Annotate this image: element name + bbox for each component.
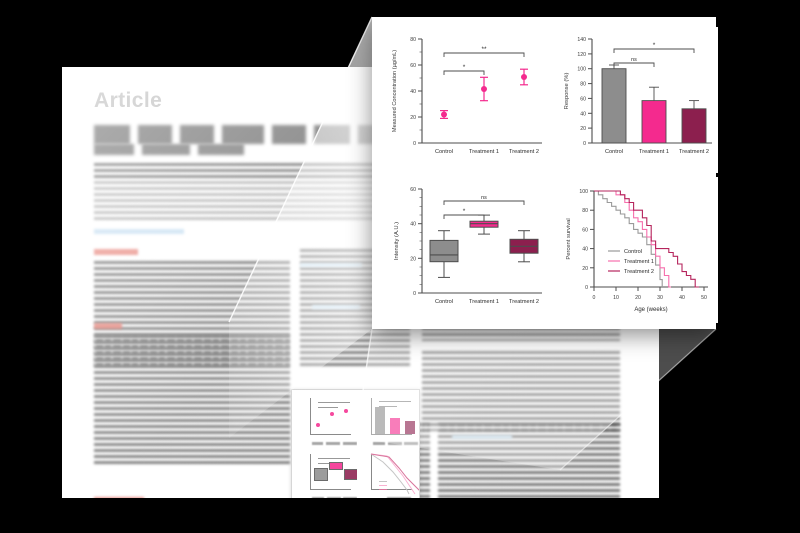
svg-text:Treatment 1: Treatment 1 [624, 259, 654, 265]
svg-text:ns: ns [481, 195, 487, 201]
svg-text:Treatment 2: Treatment 2 [509, 149, 539, 155]
section-heading-results [94, 497, 144, 498]
article-kicker: Article [94, 89, 162, 113]
svg-text:40: 40 [410, 222, 416, 228]
svg-text:*: * [463, 208, 466, 215]
svg-text:100: 100 [579, 189, 588, 195]
svg-text:0: 0 [413, 141, 416, 147]
svg-text:0: 0 [413, 291, 416, 297]
thumb-bar-chart [357, 394, 415, 447]
svg-text:60: 60 [580, 96, 586, 102]
svg-text:30: 30 [657, 295, 663, 301]
measured-concentration-chart: 0 20 40 60 80 Measured Concentratio [382, 27, 548, 173]
svg-text:Treatment 1: Treatment 1 [469, 149, 499, 155]
survival-curve-chart: 0 20 40 60 80 100 [552, 177, 718, 323]
svg-text:20: 20 [580, 126, 586, 132]
svg-text:40: 40 [580, 111, 586, 117]
svg-text:40: 40 [582, 247, 588, 253]
thumb-survival-curve [357, 450, 415, 499]
section-heading-abstract [94, 249, 138, 255]
svg-text:Response (%): Response (%) [564, 73, 570, 110]
figure-thumbnail[interactable] [291, 389, 420, 498]
middle-column-highlight-2 [312, 305, 360, 309]
svg-text:80: 80 [410, 37, 416, 43]
svg-text:20: 20 [635, 295, 641, 301]
svg-text:Age (weeks): Age (weeks) [634, 307, 667, 313]
screenshot-stage: Article [0, 0, 800, 533]
svg-text:20: 20 [410, 256, 416, 262]
right-column-text-mid [422, 351, 620, 431]
svg-text:Control: Control [624, 249, 642, 255]
svg-text:Treatment 1: Treatment 1 [639, 149, 669, 155]
svg-text:100: 100 [577, 67, 586, 73]
section-heading-intro [94, 323, 122, 329]
svg-text:120: 120 [577, 52, 586, 58]
svg-text:ns: ns [631, 57, 637, 63]
response-bar-chart: 0 20 40 60 80 100 120 140 Response (%) [552, 27, 718, 173]
svg-text:40: 40 [410, 89, 416, 95]
intensity-box-plot: 0 20 40 60 Intensity (A.U.) ns * [382, 177, 548, 323]
svg-text:Control: Control [435, 299, 453, 305]
svg-text:20: 20 [582, 266, 588, 272]
svg-text:Treatment 1: Treatment 1 [469, 299, 499, 305]
svg-text:Measured Concentration (µg/mL): Measured Concentration (µg/mL) [392, 50, 398, 132]
svg-text:80: 80 [580, 82, 586, 88]
svg-text:0: 0 [585, 285, 588, 291]
svg-text:60: 60 [410, 187, 416, 193]
svg-text:20: 20 [410, 115, 416, 121]
svg-text:60: 60 [582, 227, 588, 233]
middle-column-highlight-1 [300, 263, 362, 267]
svg-text:Treatment 2: Treatment 2 [624, 269, 654, 275]
correspondence-link[interactable] [94, 229, 184, 234]
thumb-scatter-chart [296, 394, 354, 447]
article-title-line-2 [94, 144, 244, 155]
svg-text:10: 10 [613, 295, 619, 301]
svg-text:Control: Control [605, 149, 623, 155]
magnified-figure-panel[interactable]: 0 20 40 60 80 Measured Concentratio [372, 17, 716, 329]
svg-text:0: 0 [593, 295, 596, 301]
svg-text:Control: Control [435, 149, 453, 155]
bottom-figure-right-label [452, 435, 512, 439]
svg-text:*: * [463, 64, 466, 71]
svg-text:Intensity (A.U.): Intensity (A.U.) [394, 222, 400, 260]
svg-text:0: 0 [583, 141, 586, 147]
svg-text:40: 40 [679, 295, 685, 301]
svg-text:50: 50 [701, 295, 707, 301]
svg-text:Treatment 2: Treatment 2 [509, 299, 539, 305]
svg-text:Treatment 2: Treatment 2 [679, 149, 709, 155]
svg-text:*: * [653, 42, 656, 49]
svg-text:60: 60 [410, 63, 416, 69]
svg-text:Percent survival: Percent survival [566, 218, 572, 259]
svg-text:140: 140 [577, 37, 586, 43]
thumb-box-plot [296, 450, 354, 499]
intro-text-block [94, 335, 290, 465]
svg-text:80: 80 [582, 208, 588, 214]
svg-text:**: ** [481, 46, 487, 53]
